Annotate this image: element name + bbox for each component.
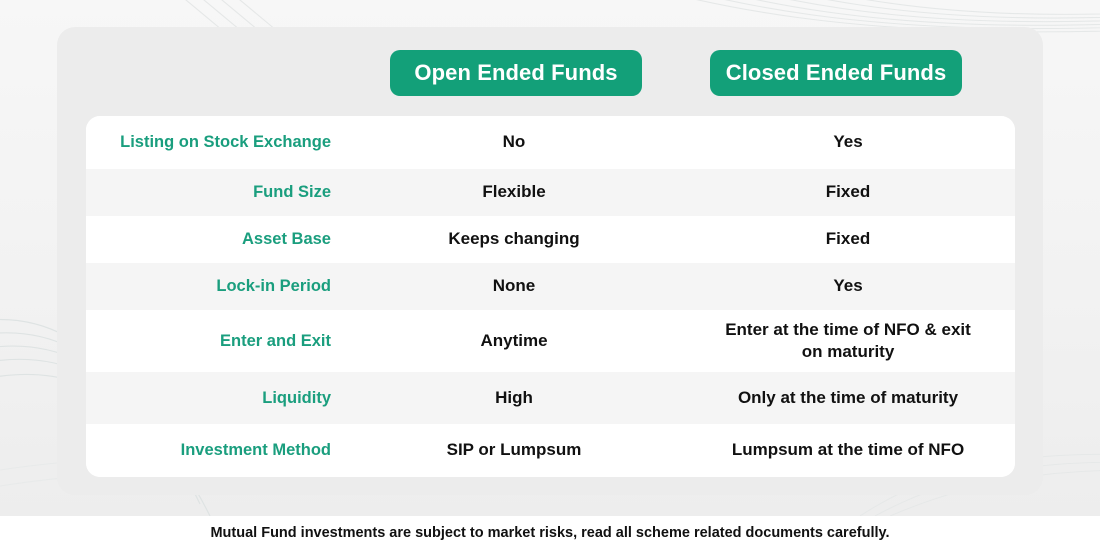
table-row: Fund Size Flexible Fixed — [86, 169, 1015, 216]
row-value-open-ended: No — [347, 131, 681, 153]
column-header-closed-ended: Closed Ended Funds — [710, 50, 962, 96]
row-label: Enter and Exit — [86, 331, 347, 352]
row-value-closed-ended: Enter at the time of NFO & exit on matur… — [703, 319, 993, 363]
table-row: Asset Base Keeps changing Fixed — [86, 216, 1015, 263]
row-value-closed-ended: Lumpsum at the time of NFO — [681, 439, 1015, 461]
row-label: Liquidity — [86, 388, 347, 409]
row-value-closed-ended: Fixed — [681, 228, 1015, 250]
table-row: Enter and Exit Anytime Enter at the time… — [86, 310, 1015, 372]
column-header-open-ended-label: Open Ended Funds — [414, 60, 617, 86]
row-label: Investment Method — [86, 440, 347, 461]
row-value-closed-ended: Yes — [681, 275, 1015, 297]
disclaimer-bar: Mutual Fund investments are subject to m… — [0, 516, 1100, 550]
row-value-open-ended: Anytime — [347, 330, 681, 352]
row-label: Lock-in Period — [86, 276, 347, 297]
row-label: Listing on Stock Exchange — [86, 132, 347, 153]
table-row: Investment Method SIP or Lumpsum Lumpsum… — [86, 424, 1015, 477]
row-value-open-ended: None — [347, 275, 681, 297]
comparison-infographic: Open Ended Funds Closed Ended Funds List… — [0, 0, 1100, 550]
column-header-closed-ended-label: Closed Ended Funds — [726, 60, 947, 86]
row-value-open-ended: Keeps changing — [347, 228, 681, 250]
row-label: Asset Base — [86, 229, 347, 250]
comparison-table: Listing on Stock Exchange No Yes Fund Si… — [86, 116, 1015, 477]
row-value-open-ended: High — [347, 387, 681, 409]
table-row: Lock-in Period None Yes — [86, 263, 1015, 310]
row-value-open-ended: SIP or Lumpsum — [347, 439, 681, 461]
row-value-closed-ended: Only at the time of maturity — [681, 387, 1015, 409]
row-value-open-ended: Flexible — [347, 181, 681, 203]
table-row: Listing on Stock Exchange No Yes — [86, 116, 1015, 169]
row-value-closed-ended: Yes — [681, 131, 1015, 153]
row-label: Fund Size — [86, 182, 347, 203]
row-value-closed-ended: Fixed — [681, 181, 1015, 203]
column-header-open-ended: Open Ended Funds — [390, 50, 642, 96]
disclaimer-text: Mutual Fund investments are subject to m… — [210, 525, 889, 541]
table-row: Liquidity High Only at the time of matur… — [86, 372, 1015, 424]
